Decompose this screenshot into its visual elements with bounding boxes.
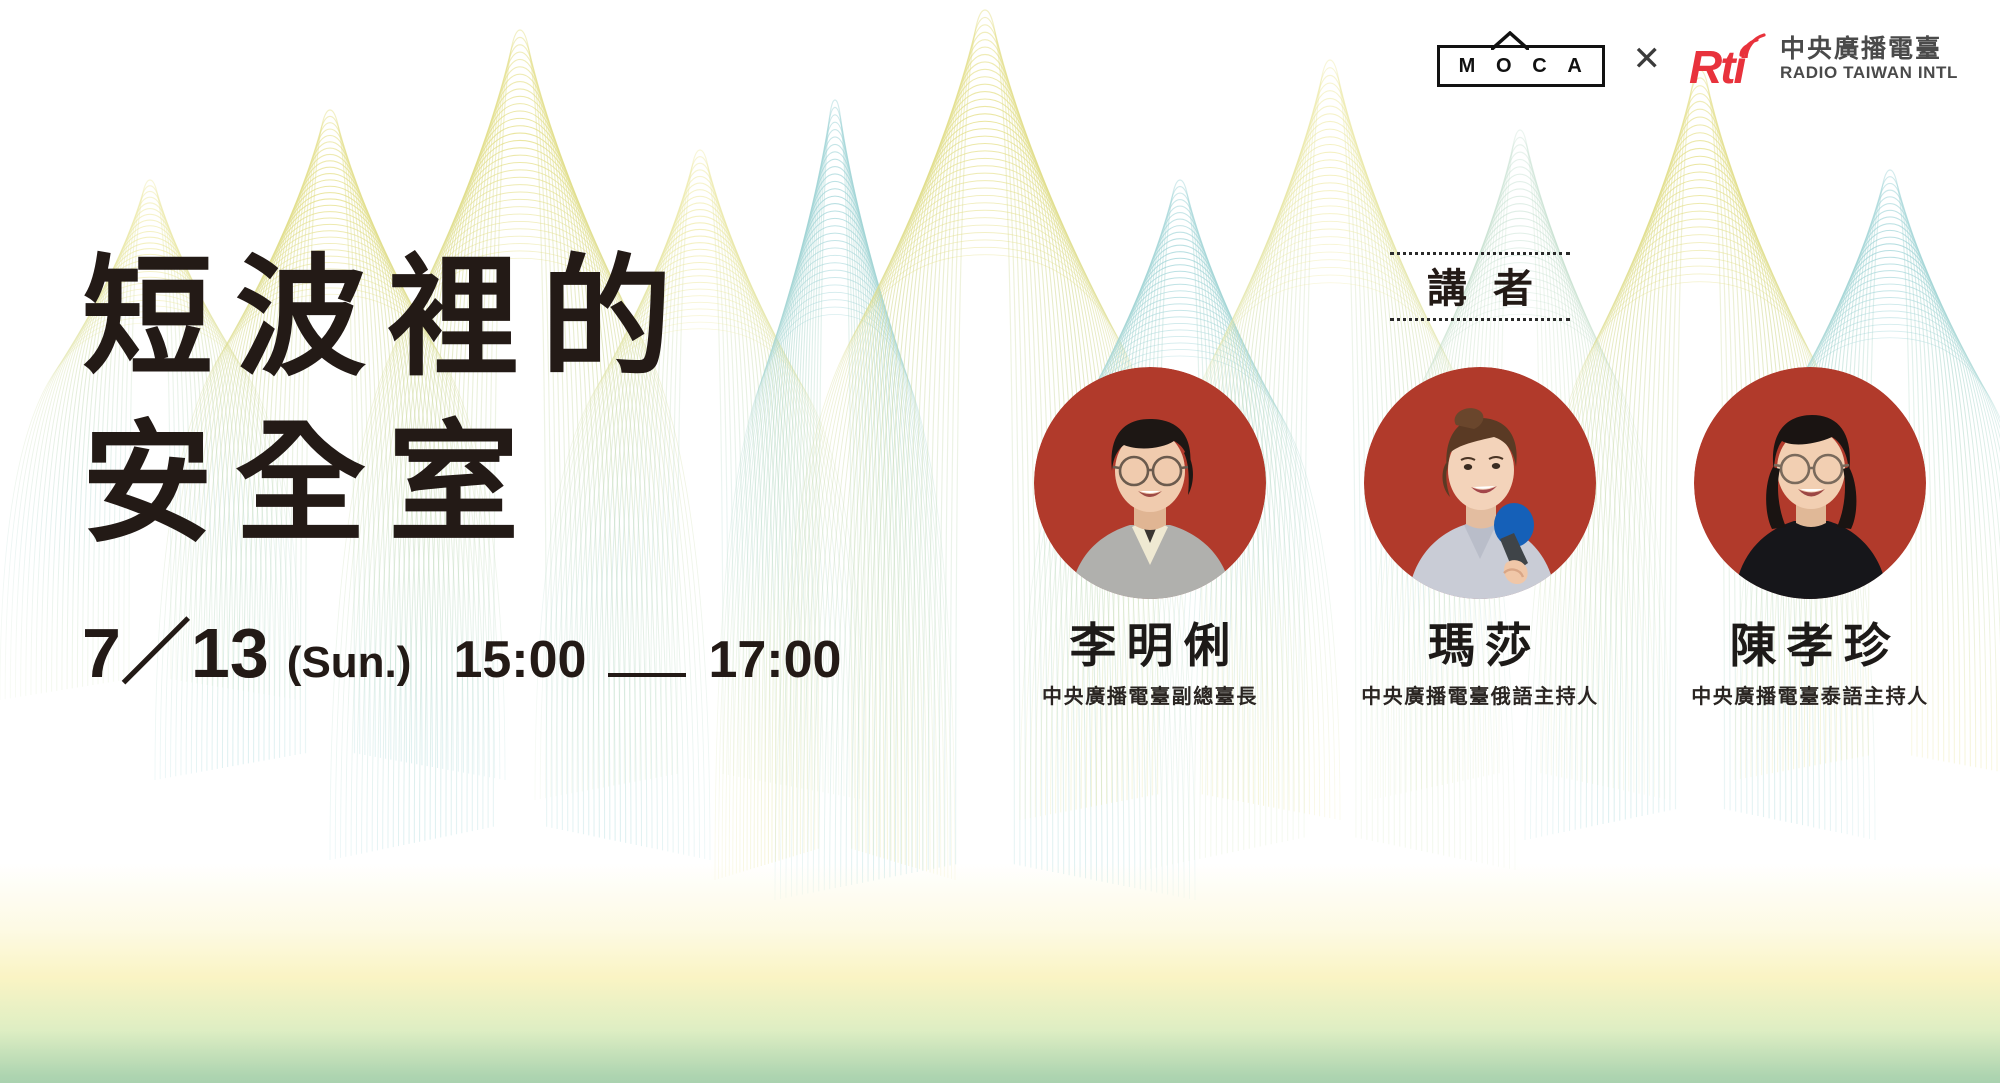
rti-name-cn: 中央廣播電臺 xyxy=(1780,36,1958,63)
portrait-chen-hsiao-chen xyxy=(1694,367,1926,599)
moca-logo[interactable]: M O C A xyxy=(1437,31,1605,87)
page-title-line2: 安全室 xyxy=(82,406,841,566)
cross-symbol: ✕ xyxy=(1631,42,1664,76)
speakers-heading: 講者 xyxy=(1390,252,1570,321)
rti-mark: Rti xyxy=(1689,30,1769,88)
speaker-name-2: 瑪莎 xyxy=(1330,621,1630,675)
moca-letter-o: O xyxy=(1496,56,1512,76)
speakers-block: 講者 xyxy=(1000,252,1960,709)
speaker-row: 李明俐 中央廣播電臺副總臺長 xyxy=(1000,367,1960,709)
bottom-gradient-band xyxy=(0,863,2000,1083)
portrait-masha xyxy=(1364,367,1596,599)
moca-letterbox: M O C A xyxy=(1437,45,1605,87)
event-poster: M O C A ✕ Rti 中央廣播電臺 RADIO TA xyxy=(0,0,2000,1083)
logo-bar: M O C A ✕ Rti 中央廣播電臺 RADIO TA xyxy=(1437,30,1958,88)
event-datetime: 7／13 (Sun.) 15:00 17:00 xyxy=(82,618,841,691)
event-date: 7／13 xyxy=(82,618,269,688)
speaker-role-1: 中央廣播電臺副總臺長 xyxy=(1000,685,1300,709)
title-block: 短波裡的 安全室 7／13 (Sun.) 15:00 17:00 xyxy=(82,240,841,691)
moca-letter-c: C xyxy=(1532,56,1547,76)
speaker-card-3[interactable]: 陳孝珍 中央廣播電臺泰語主持人 xyxy=(1660,367,1960,709)
speaker-card-1[interactable]: 李明俐 中央廣播電臺副總臺長 xyxy=(1000,367,1300,709)
moca-letter-m: M xyxy=(1459,56,1476,76)
speakers-heading-label: 講者 xyxy=(1390,265,1570,312)
speaker-role-3: 中央廣播電臺泰語主持人 xyxy=(1660,685,1960,709)
rti-text-block: 中央廣播電臺 RADIO TAIWAN INTL xyxy=(1780,36,1958,82)
rti-logo[interactable]: Rti 中央廣播電臺 RADIO TAIWAN INTL xyxy=(1689,30,1958,88)
time-range-separator xyxy=(608,673,686,677)
moca-letter-a: A xyxy=(1567,56,1582,76)
rti-name-en: RADIO TAIWAN INTL xyxy=(1780,64,1958,82)
speaker-role-2: 中央廣播電臺俄語主持人 xyxy=(1330,685,1630,709)
speaker-name-1: 李明俐 xyxy=(1000,621,1300,675)
event-end-time: 17:00 xyxy=(708,634,841,686)
event-weekday: (Sun.) xyxy=(287,641,412,685)
radio-wave-icon xyxy=(1737,28,1771,58)
speaker-card-2[interactable]: 瑪莎 中央廣播電臺俄語主持人 xyxy=(1330,367,1630,709)
event-start-time: 15:00 xyxy=(453,634,586,686)
page-title-line1: 短波裡的 xyxy=(82,240,841,400)
speaker-name-3: 陳孝珍 xyxy=(1660,621,1960,675)
portrait-li-ming-li xyxy=(1034,367,1266,599)
